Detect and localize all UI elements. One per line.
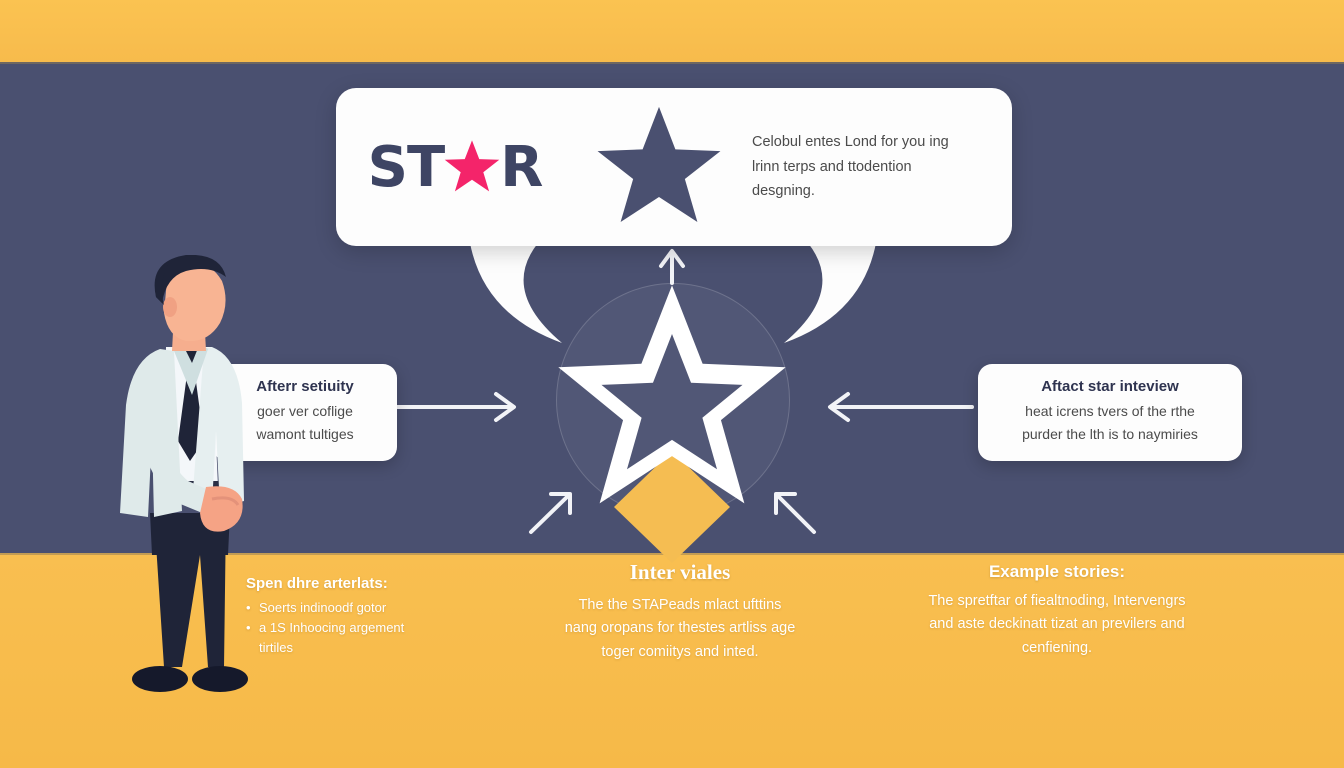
hero-description: Celobul entes Lond for you ing lrinn ter…	[744, 130, 1012, 203]
ear	[163, 297, 177, 317]
hero-card: ST R Celobul entes Lond for you ing lrin…	[336, 88, 1012, 246]
bottom-right-column: Example stories: The spretftar of fiealt…	[916, 562, 1198, 660]
top-amber-band	[0, 0, 1344, 62]
right-info-card: Aftact star inteview heat icrens tvers o…	[978, 364, 1242, 461]
infographic-canvas: ST R Celobul entes Lond for you ing lrin…	[0, 0, 1344, 768]
shoe-right	[192, 666, 248, 692]
right-card-title: Aftact star inteview	[994, 378, 1226, 395]
hero-feature-star	[574, 103, 744, 231]
right-card-line-2: purder the lth is to naymiries	[994, 423, 1226, 446]
hand	[200, 486, 243, 531]
shoe-left	[132, 666, 188, 692]
star-icon-navy	[593, 103, 725, 231]
bottom-right-body: The spretftar of fiealtnoding, Interveng…	[916, 590, 1198, 660]
businessman-illustration	[108, 255, 276, 733]
logo-prefix-text: ST	[368, 135, 445, 200]
star-brand-logo: ST R	[336, 135, 574, 200]
bubble-tail-left-icon	[470, 243, 610, 353]
bottom-middle-body: The the STAPeads mlact ufttins nang orop…	[562, 594, 798, 664]
bottom-middle-column: Inter viales The the STAPeads mlact uftt…	[562, 560, 798, 664]
right-card-line-1: heat icrens tvers of the rthe	[994, 400, 1226, 423]
bubble-tail-right-icon	[736, 243, 876, 353]
logo-suffix-text: R	[500, 135, 542, 200]
star-icon-pink	[443, 138, 501, 196]
bottom-right-heading: Example stories:	[916, 562, 1198, 582]
bottom-middle-heading: Inter viales	[562, 560, 798, 585]
